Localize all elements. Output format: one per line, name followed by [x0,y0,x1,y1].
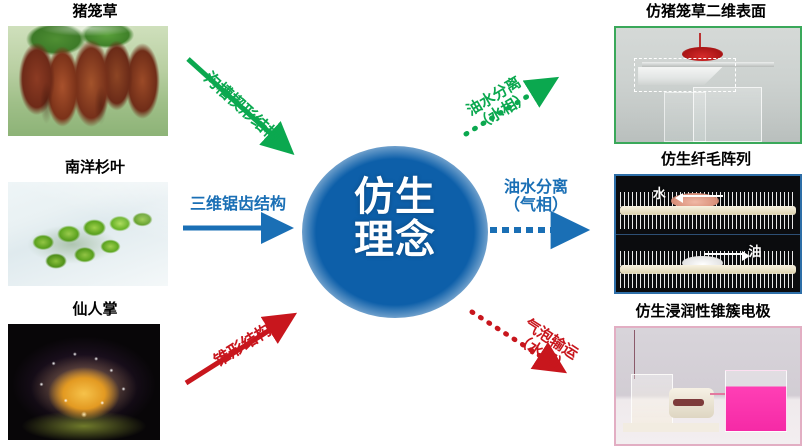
cilia-panel-bottom [616,234,800,293]
pink-solution-tank-shape [725,370,788,432]
caption-cactus: 仙人掌 [0,300,190,318]
cilia-bristles-lower [620,214,797,229]
biomimetic-cilia-array-photo: 水 油 [614,174,802,294]
cilia-arrow-water-left [682,195,722,197]
diagram-canvas: 猪笼草 南洋杉叶 仙人掌 仿生 理念 [0,0,806,447]
caption-biomimetic-2d-surface: 仿猪笼草二维表面 [606,2,806,20]
arrow-label-grooved-wedge: 沟槽楔形结构 [184,54,300,161]
electrode-wire-shape [634,330,635,379]
arrow-label-oil-water-sep-gas: 油水分离 （气相） [478,178,594,214]
biomimetic-wettability-cone-electrode-photo [614,326,802,446]
arrow-label-3d-sawtooth: 三维锯齿结构 [180,195,296,213]
cactus-photo [8,324,160,440]
caption-biomimetic-electrode: 仿生浸润性锥簇电极 [600,302,806,320]
pitcher-plant-photo [8,26,168,136]
cilia-arrow-oil-right [704,253,743,255]
biomimetic-2d-surface-photo [614,26,802,144]
beaker-shape [693,87,761,141]
cilia-label-water: 水 [653,183,666,202]
cylinder-cell-shape [669,388,713,418]
cilia-bristles-lower-2 [620,273,797,288]
cilia-label-oil: 油 [748,241,761,260]
cilia-panel-top [616,176,800,234]
center-label: 仿生 理念 [302,176,488,262]
caption-araucaria-leaf: 南洋杉叶 [0,158,190,176]
bench-surface-shape [623,423,719,432]
caption-pitcher-plant: 猪笼草 [0,2,190,20]
arrow-label-oil-water-sep-water: 油水分离 （水相） [445,62,551,144]
caption-biomimetic-cilia-array: 仿生纤毛阵列 [606,150,806,168]
arrow-label-bubble-transport-water: 气泡输运 （水相） [494,304,600,389]
arrow-label-conical-structure: 锥形结构 [193,310,292,381]
cylinder-core-shape [673,399,704,407]
araucaria-leaf-photo [8,182,168,286]
